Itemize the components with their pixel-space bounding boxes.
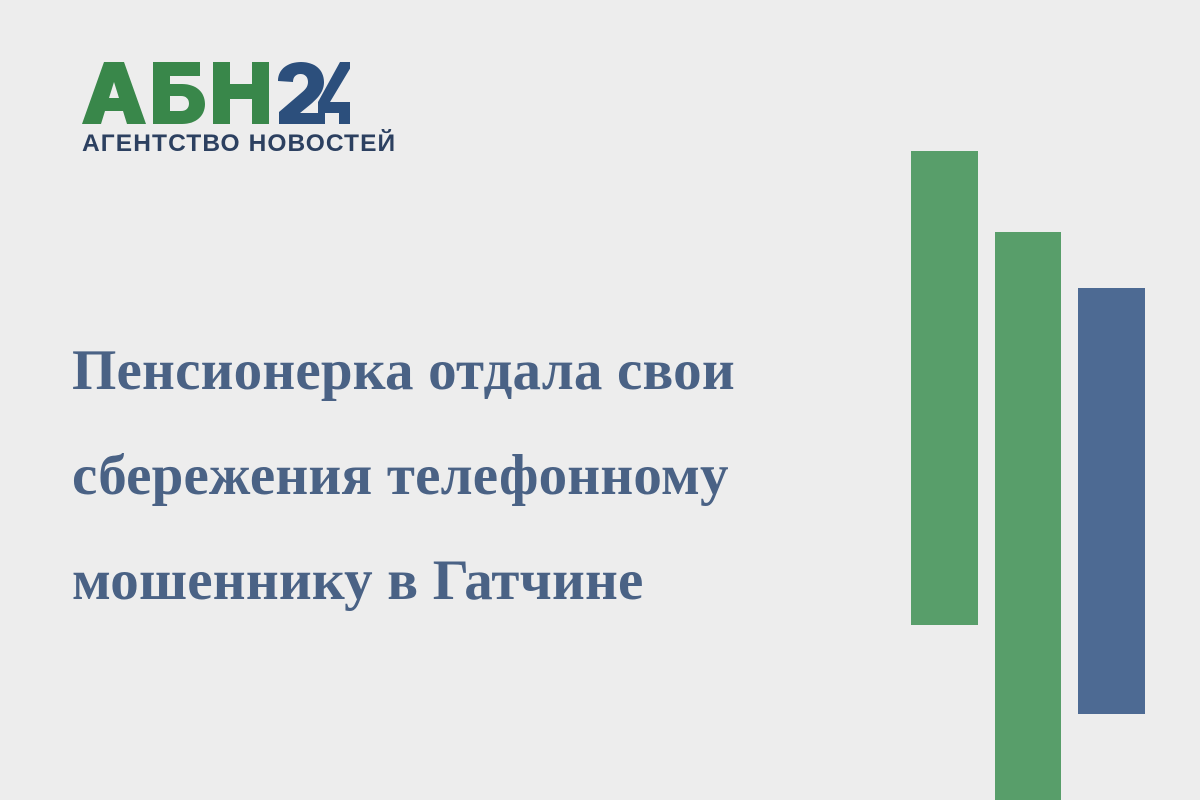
decorative-bar-green-tall [911, 151, 978, 625]
headline-line-1: Пенсионерка отдала свои [72, 318, 882, 423]
decorative-bar-blue-short [1078, 288, 1145, 714]
headline-line-3: мошеннику в Гатчине [72, 528, 882, 633]
abn24-logo-icon [82, 62, 350, 124]
decorative-bar-green-mid [995, 232, 1061, 800]
logo-tagline: АГЕНТСТВО НОВОСТЕЙ [82, 132, 372, 157]
headline: Пенсионерка отдала свои сбережения телеф… [72, 318, 882, 633]
news-card: АГЕНТСТВО НОВОСТЕЙ Пенсионерка отдала св… [0, 0, 1200, 800]
headline-line-2: сбережения телефонному [72, 423, 882, 528]
brand-logo: АГЕНТСТВО НОВОСТЕЙ [82, 62, 372, 157]
